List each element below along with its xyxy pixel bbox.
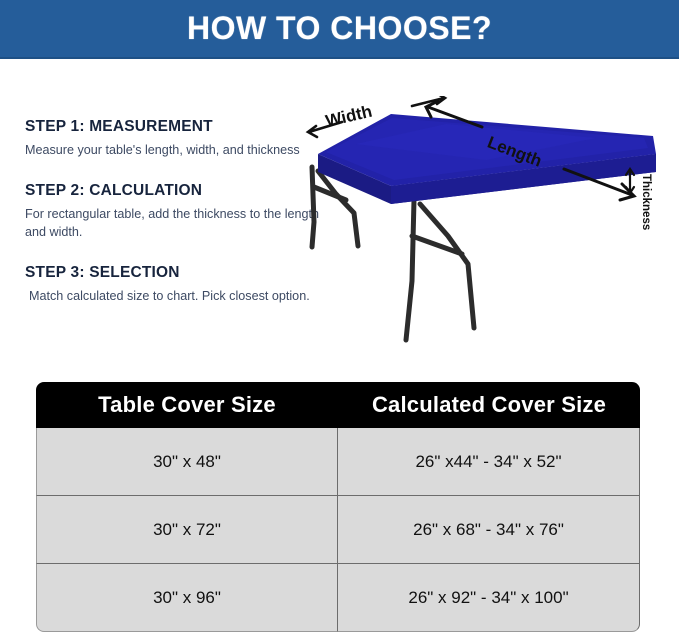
steps-column: STEP 1: MEASUREMENT Measure your table's…: [25, 118, 325, 306]
column-header-calculated-cover-size: Calculated Cover Size: [338, 382, 640, 428]
step-1-body: Measure your table's length, width, and …: [25, 142, 325, 160]
cell-table-cover-size: 30" x 48": [36, 428, 338, 496]
cell-table-cover-size: 30" x 96": [36, 564, 338, 632]
step-1-heading: STEP 1: MEASUREMENT: [25, 118, 325, 136]
table-illustration: Width Length Thickness: [296, 96, 679, 366]
page-title: HOW TO CHOOSE?: [187, 10, 492, 47]
step-1: STEP 1: MEASUREMENT Measure your table's…: [25, 118, 325, 160]
step-2-heading: STEP 2: CALCULATION: [25, 182, 325, 200]
step-3: STEP 3: SELECTION Match calculated size …: [25, 264, 325, 306]
table-header-row: Table Cover Size Calculated Cover Size: [36, 382, 640, 428]
column-header-table-cover-size: Table Cover Size: [36, 382, 338, 428]
step-3-heading: STEP 3: SELECTION: [25, 264, 325, 282]
table-row: 30" x 48" 26" x44" - 34" x 52": [36, 428, 640, 496]
cell-calculated-cover-size: 26" x44" - 34" x 52": [338, 428, 640, 496]
thickness-label: Thickness: [640, 174, 652, 230]
step-2-body: For rectangular table, add the thickness…: [25, 206, 325, 242]
cell-calculated-cover-size: 26" x 68" - 34" x 76": [338, 496, 640, 564]
cell-calculated-cover-size: 26" x 92" - 34" x 100": [338, 564, 640, 632]
size-chart-table: Table Cover Size Calculated Cover Size 3…: [36, 382, 640, 632]
thickness-arrow: [626, 169, 634, 193]
table-row: 30" x 96" 26" x 92" - 34" x 100": [36, 564, 640, 632]
folding-table-drawing: [296, 96, 679, 366]
step-3-body: Match calculated size to chart. Pick clo…: [25, 288, 325, 306]
table-row: 30" x 72" 26" x 68" - 34" x 76": [36, 496, 640, 564]
page-header-banner: HOW TO CHOOSE?: [0, 0, 679, 59]
step-2: STEP 2: CALCULATION For rectangular tabl…: [25, 182, 325, 242]
cell-table-cover-size: 30" x 72": [36, 496, 338, 564]
